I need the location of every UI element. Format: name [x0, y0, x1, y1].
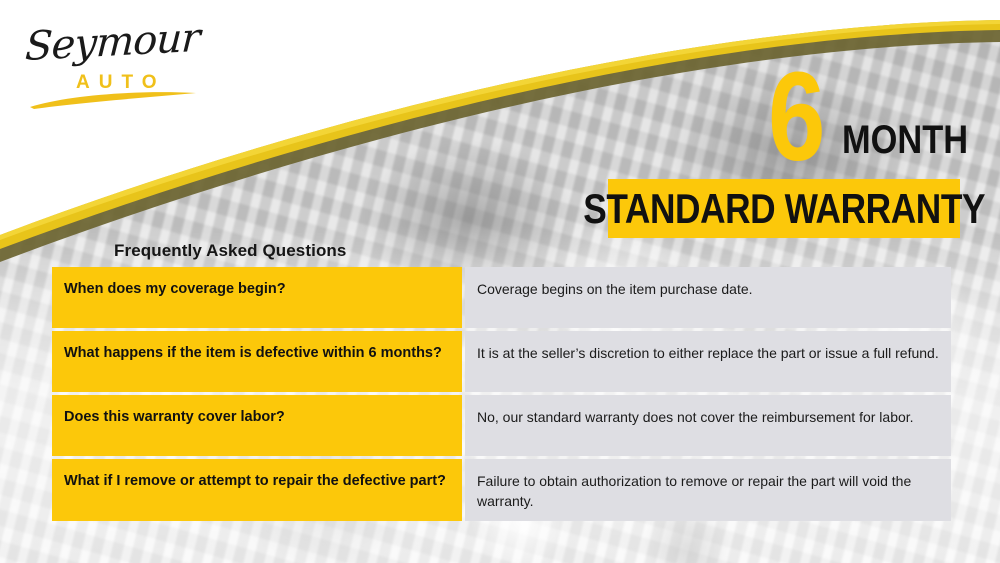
faq-answer-text: It is at the seller’s discretion to eith… [477, 344, 939, 364]
faq-question-text: When does my coverage begin? [64, 280, 450, 299]
duration-unit: MONTH [842, 120, 968, 160]
faq-answer-cell: Failure to obtain authorization to remov… [465, 459, 951, 521]
warranty-slide: Seymour AUTO 6 MONTH STANDARD WARRANTY F… [0, 0, 1000, 563]
faq-answer-cell: No, our standard warranty does not cover… [465, 395, 951, 456]
duration-number: 6 [768, 54, 824, 180]
faq-question-cell: What happens if the item is defective wi… [52, 331, 462, 392]
faq-table-body: When does my coverage begin? Coverage be… [52, 267, 951, 521]
table-row: Does this warranty cover labor? No, our … [52, 395, 951, 456]
table-row: When does my coverage begin? Coverage be… [52, 267, 951, 328]
faq-answer-text: Coverage begins on the item purchase dat… [477, 280, 939, 300]
logo-wordmark: Seymour [24, 15, 201, 70]
faq-question-text: What happens if the item is defective wi… [64, 344, 450, 363]
table-row: What if I remove or attempt to repair th… [52, 459, 951, 521]
faq-answer-cell: It is at the seller’s discretion to eith… [465, 331, 951, 392]
seymour-auto-logo: Seymour AUTO [18, 22, 208, 114]
table-row: What happens if the item is defective wi… [52, 331, 951, 392]
faq-answer-text: No, our standard warranty does not cover… [477, 408, 939, 428]
faq-heading: Frequently Asked Questions [114, 241, 346, 261]
faq-answer-cell: Coverage begins on the item purchase dat… [465, 267, 951, 328]
faq-question-text: What if I remove or attempt to repair th… [64, 472, 450, 491]
faq-answer-text: Failure to obtain authorization to remov… [477, 472, 939, 511]
logo-swoosh-icon [28, 88, 198, 110]
faq-question-cell: When does my coverage begin? [52, 267, 462, 328]
faq-question-cell: Does this warranty cover labor? [52, 395, 462, 456]
faq-question-text: Does this warranty cover labor? [64, 408, 450, 427]
faq-table: When does my coverage begin? Coverage be… [49, 264, 954, 524]
banner-title: STANDARD WARRANTY [583, 188, 985, 230]
warranty-duration: 6 MONTH [760, 52, 970, 164]
standard-warranty-banner: STANDARD WARRANTY [608, 179, 960, 238]
faq-question-cell: What if I remove or attempt to repair th… [52, 459, 462, 521]
